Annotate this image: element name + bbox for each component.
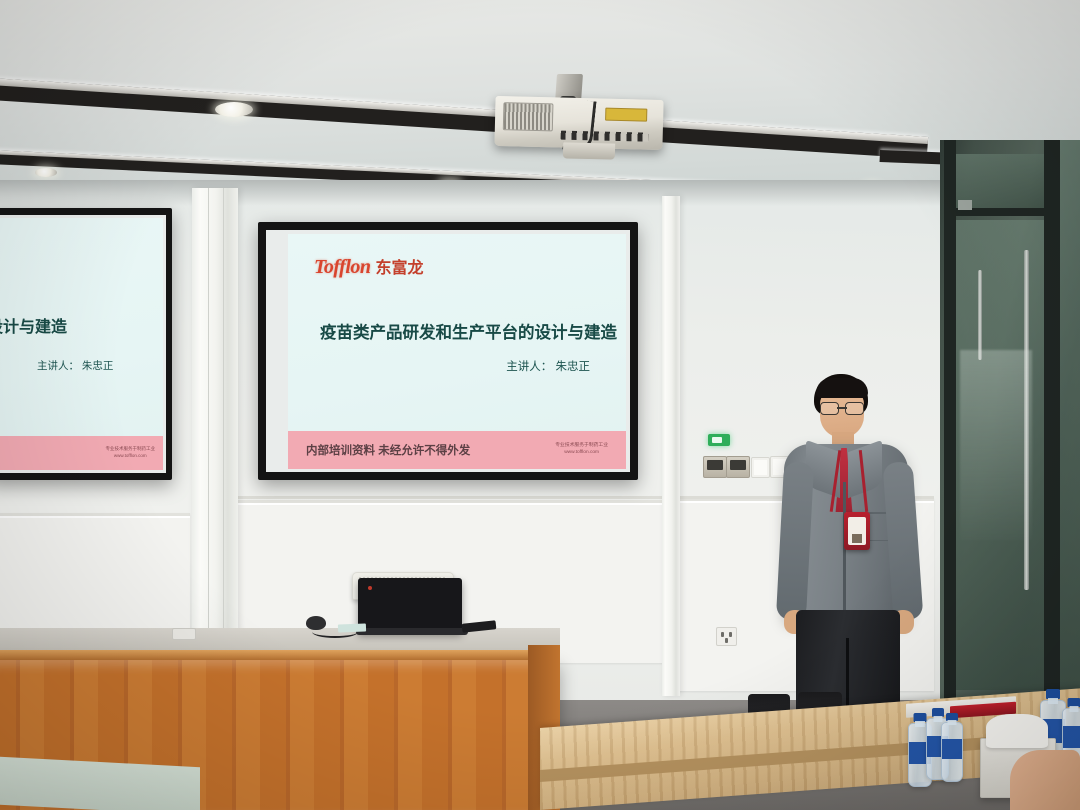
door-closer-bracket bbox=[958, 200, 972, 210]
laptop-base[interactable] bbox=[356, 628, 468, 635]
slide-footer-notice: 内部培训资料 未经允许不得外发 bbox=[306, 442, 470, 458]
ceiling-downlight-2 bbox=[35, 168, 57, 177]
glass-partition-wall bbox=[940, 140, 1080, 740]
wall-power-outlet[interactable] bbox=[716, 627, 737, 646]
projector-vent-grille bbox=[503, 102, 554, 131]
door-frame-left bbox=[944, 140, 956, 715]
slide-left: 的设计与建造 主讲人： 朱忠正 专业技术服务于制药工业 www.tofflon.… bbox=[0, 218, 163, 470]
logo-text-cn: 东富龙 bbox=[376, 254, 424, 278]
presentation-screen-left: 的设计与建造 主讲人： 朱忠正 专业技术服务于制药工业 www.tofflon.… bbox=[0, 208, 172, 480]
ceiling-downlight-1 bbox=[215, 102, 253, 117]
presenter-person bbox=[770, 370, 930, 710]
exit-sign bbox=[708, 434, 730, 446]
id-badge bbox=[844, 512, 870, 550]
door-frame-center bbox=[1044, 140, 1060, 715]
person-hair-front bbox=[816, 378, 868, 398]
glass-side-panel bbox=[1058, 140, 1080, 700]
desk-cable-grommet bbox=[172, 628, 196, 640]
projector-warning-label bbox=[605, 108, 647, 122]
slide-presenter-line: 主讲人： 朱忠正 bbox=[506, 358, 590, 374]
projector-lens-housing bbox=[563, 142, 615, 159]
slide-footer-url: www.tofflon.com bbox=[564, 450, 599, 457]
foreground-person-arm bbox=[1010, 750, 1080, 810]
slide-footer: 内部培训资料 未经允许不得外发 专业技术服务于制药工业 www.tofflon.… bbox=[288, 431, 626, 469]
slide-main: Tofflon 东富龙 疫苗类产品研发和生产平台的设计与建造 主讲人： 朱忠正 … bbox=[288, 234, 626, 469]
water-bottle-3[interactable] bbox=[941, 722, 963, 782]
presentation-screen-main: Tofflon 东富龙 疫苗类产品研发和生产平台的设计与建造 主讲人： 朱忠正 … bbox=[258, 222, 638, 480]
av-control-panel-1[interactable] bbox=[703, 456, 727, 478]
slide-left-presenter: 主讲人： 朱忠正 bbox=[37, 358, 113, 373]
logo-text-en: Tofflon bbox=[314, 256, 371, 279]
slide-footer-tagline: 专业技术服务于制药工业 bbox=[555, 443, 608, 450]
wall-pillar-right-edge bbox=[662, 196, 680, 696]
tissue-sheet[interactable] bbox=[986, 714, 1048, 748]
wall-ceiling-shadow bbox=[0, 180, 940, 206]
paper-note bbox=[338, 624, 366, 633]
side-table-left bbox=[0, 757, 200, 810]
conference-room-photo: 的设计与建造 主讲人： 朱忠正 专业技术服务于制药工业 www.tofflon.… bbox=[0, 0, 1080, 810]
laptop-screen-lid[interactable] bbox=[358, 578, 462, 632]
light-switch-1[interactable] bbox=[751, 457, 770, 478]
glass-reflection bbox=[960, 350, 1032, 540]
slide-left-footer-url: www.tofflon.com bbox=[114, 453, 147, 460]
door-handle-secondary[interactable] bbox=[978, 270, 982, 360]
laptop-logo-dot bbox=[368, 586, 372, 590]
slide-left-footer: 专业技术服务于制药工业 www.tofflon.com bbox=[0, 436, 163, 470]
wall-pillar bbox=[192, 188, 238, 680]
av-control-panel-2[interactable] bbox=[726, 456, 750, 478]
person-glasses bbox=[820, 402, 864, 414]
slide-title: 疫苗类产品研发和生产平台的设计与建造 bbox=[320, 319, 617, 343]
slide-left-title: 的设计与建造 bbox=[0, 313, 67, 337]
tofflon-logo: Tofflon 东富龙 bbox=[314, 254, 424, 279]
